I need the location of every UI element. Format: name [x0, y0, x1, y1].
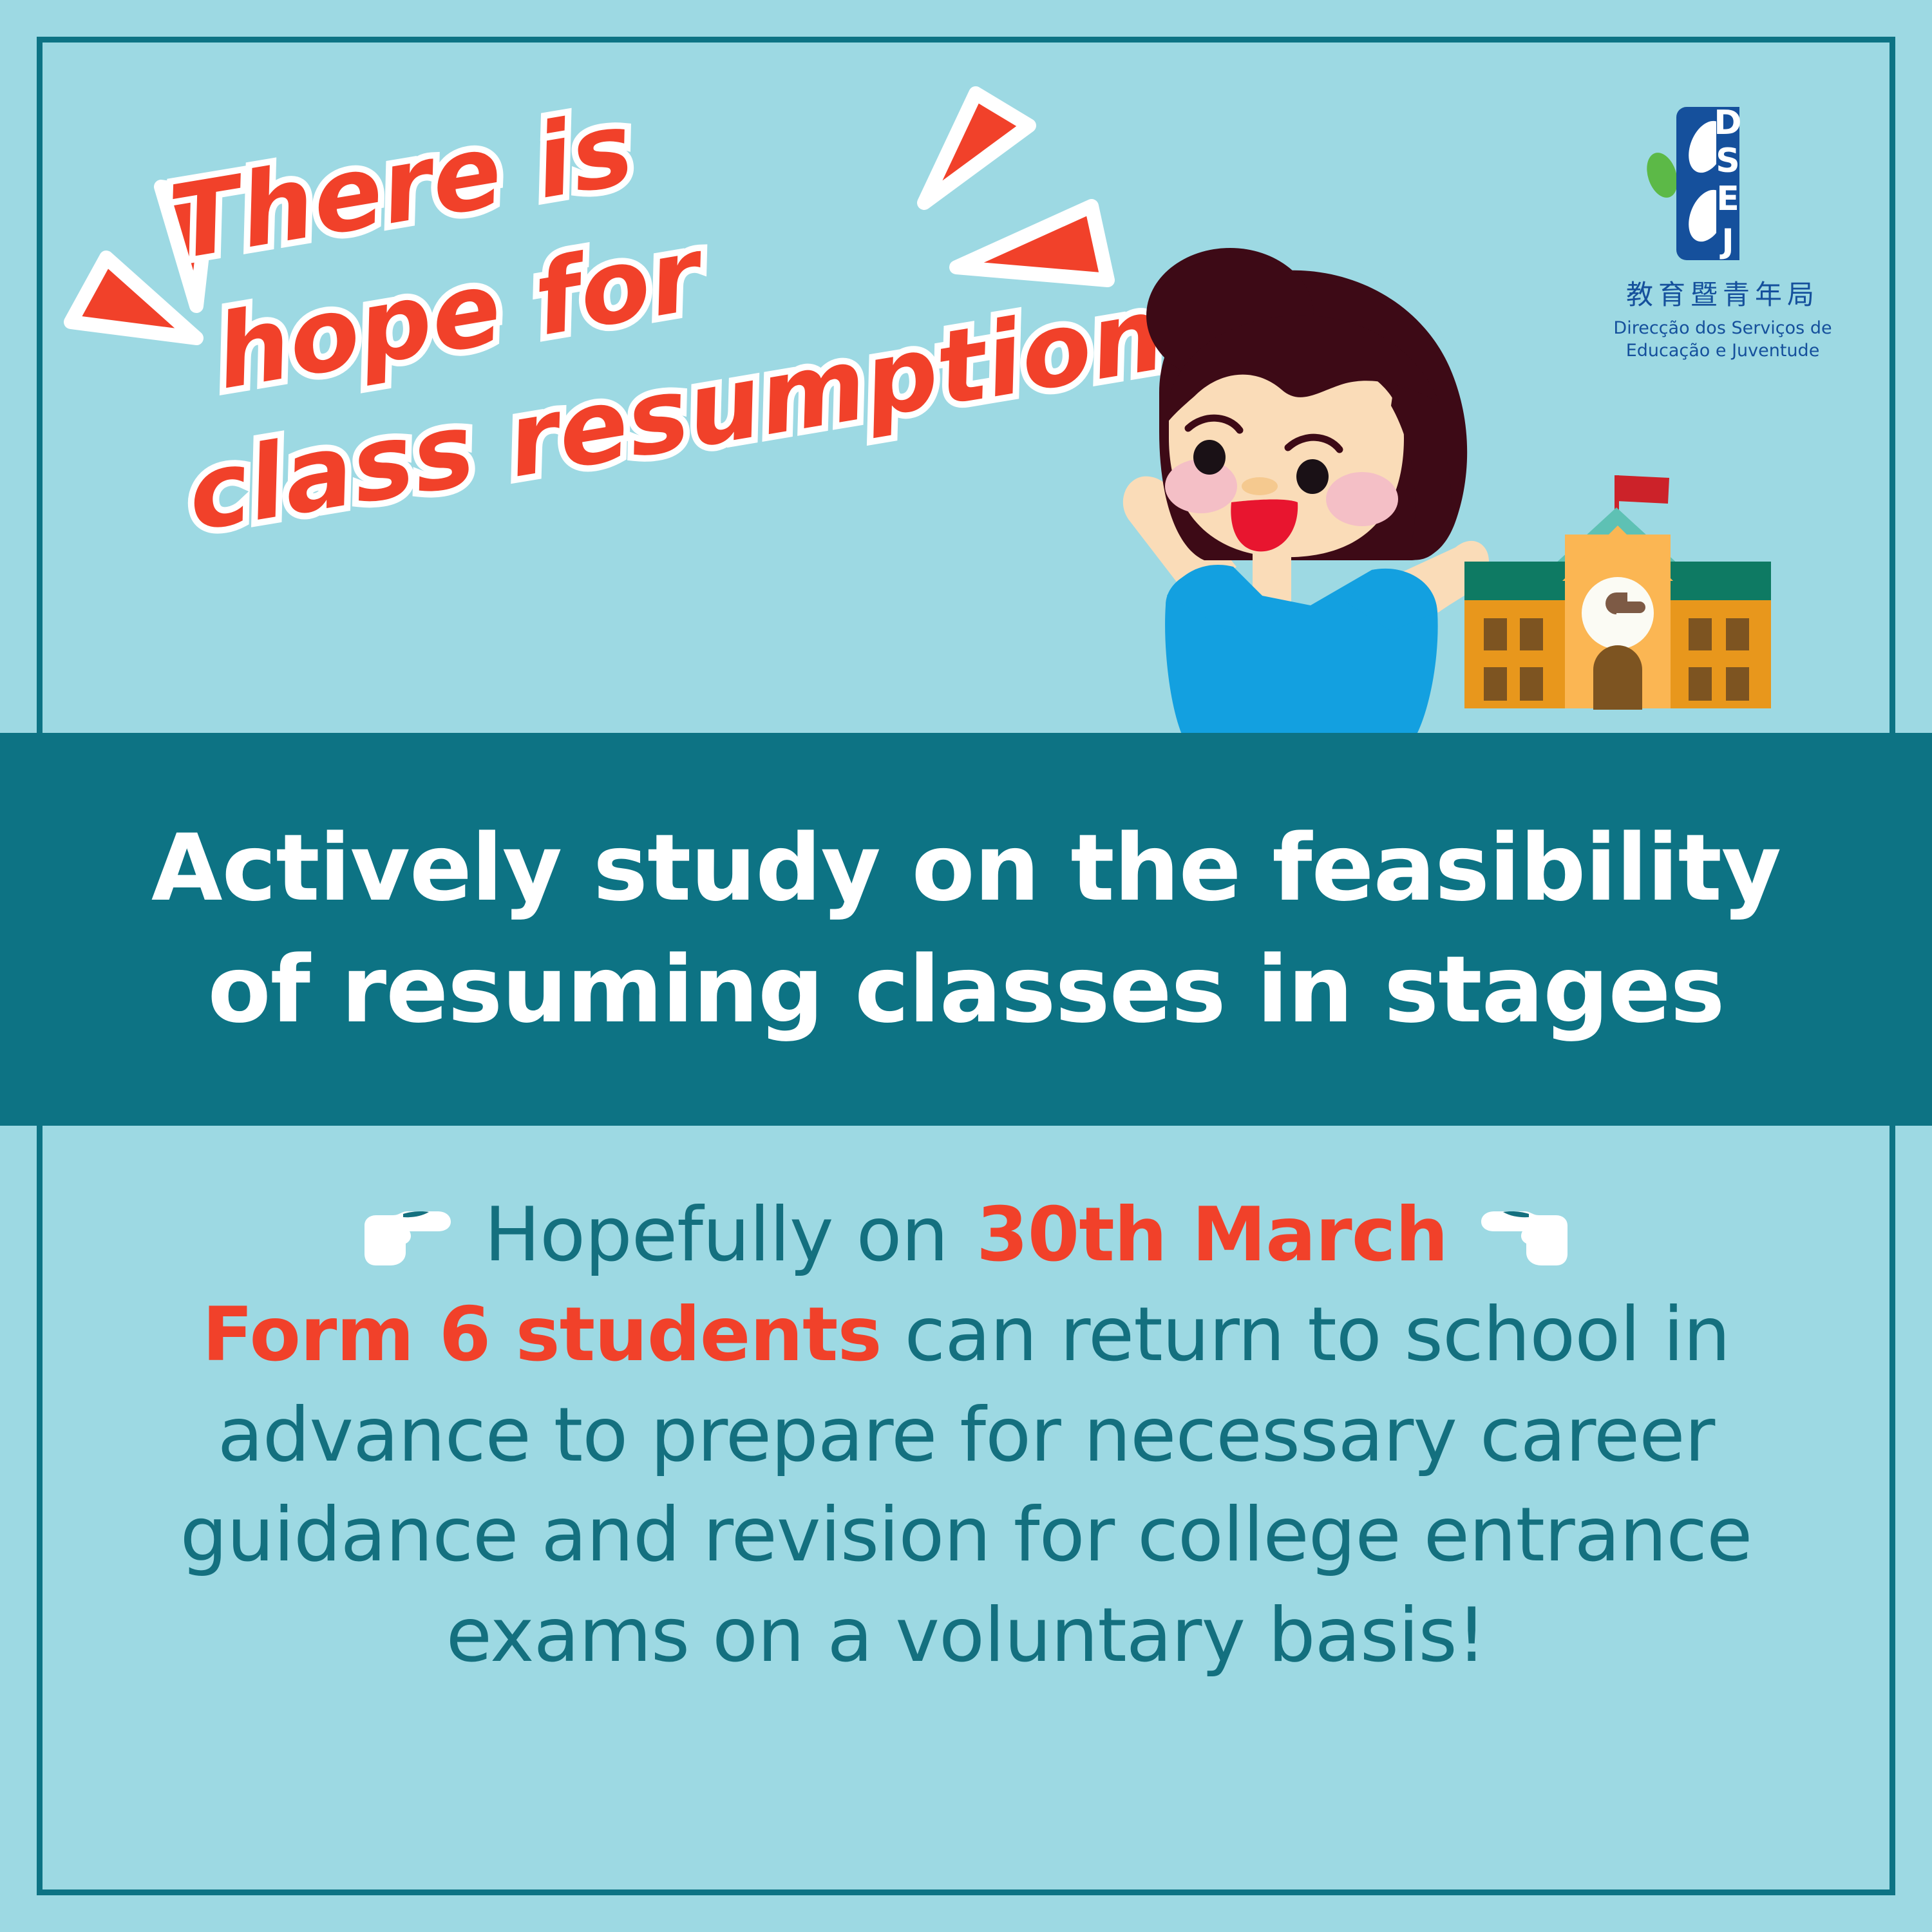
poster-root: There is hope for class resumption! — [0, 0, 1932, 1932]
logo-portuguese-line-2: Educação e Juventude — [1607, 340, 1839, 363]
body-line-1: Hopefully on 30th March — [77, 1185, 1855, 1285]
body-line-1-prefix: Hopefully on — [484, 1185, 948, 1285]
logo-chinese-name: 教育暨青年局 — [1607, 273, 1839, 312]
happy-child-illustration — [1069, 245, 1520, 734]
school-building-illustration — [1457, 464, 1817, 734]
body-line-4: guidance and revision for college entran… — [77, 1485, 1855, 1585]
body-line-5: exams on a voluntary basis! — [77, 1586, 1855, 1685]
body-line-2-rest: can return to school in — [882, 1291, 1730, 1378]
dsej-logo: D S E J 教育暨青年局 Direcção dos Serviços de … — [1607, 103, 1839, 362]
svg-text:E: E — [1716, 180, 1739, 218]
body-line-1-date: 30th March — [976, 1185, 1448, 1285]
headline: There is hope for class resumption! — [161, 0, 1219, 558]
top-section: There is hope for class resumption! — [0, 0, 1932, 733]
svg-text:S: S — [1716, 142, 1739, 180]
pointing-right-hand-icon — [359, 1200, 456, 1271]
banner-line-1: Actively study on the feasibility — [151, 808, 1781, 929]
main-banner: Actively study on the feasibility of res… — [0, 733, 1932, 1126]
svg-text:J: J — [1719, 222, 1734, 261]
body-text-block: Hopefully on 30th March Form 6 students … — [77, 1185, 1855, 1685]
dsej-logo-mark: D S E J — [1645, 103, 1800, 264]
banner-line-2: of resuming classes in stages — [207, 929, 1724, 1051]
body-line-3: advance to prepare for necessary career — [77, 1385, 1855, 1485]
body-line-2: Form 6 students can return to school in — [77, 1285, 1855, 1385]
pointing-left-hand-icon — [1476, 1200, 1573, 1271]
logo-portuguese-name: Direcção dos Serviços de Educação e Juve… — [1607, 317, 1839, 362]
svg-text:D: D — [1714, 104, 1741, 142]
body-line-2-highlight: Form 6 students — [202, 1291, 882, 1378]
logo-portuguese-line-1: Direcção dos Serviços de — [1607, 317, 1839, 340]
